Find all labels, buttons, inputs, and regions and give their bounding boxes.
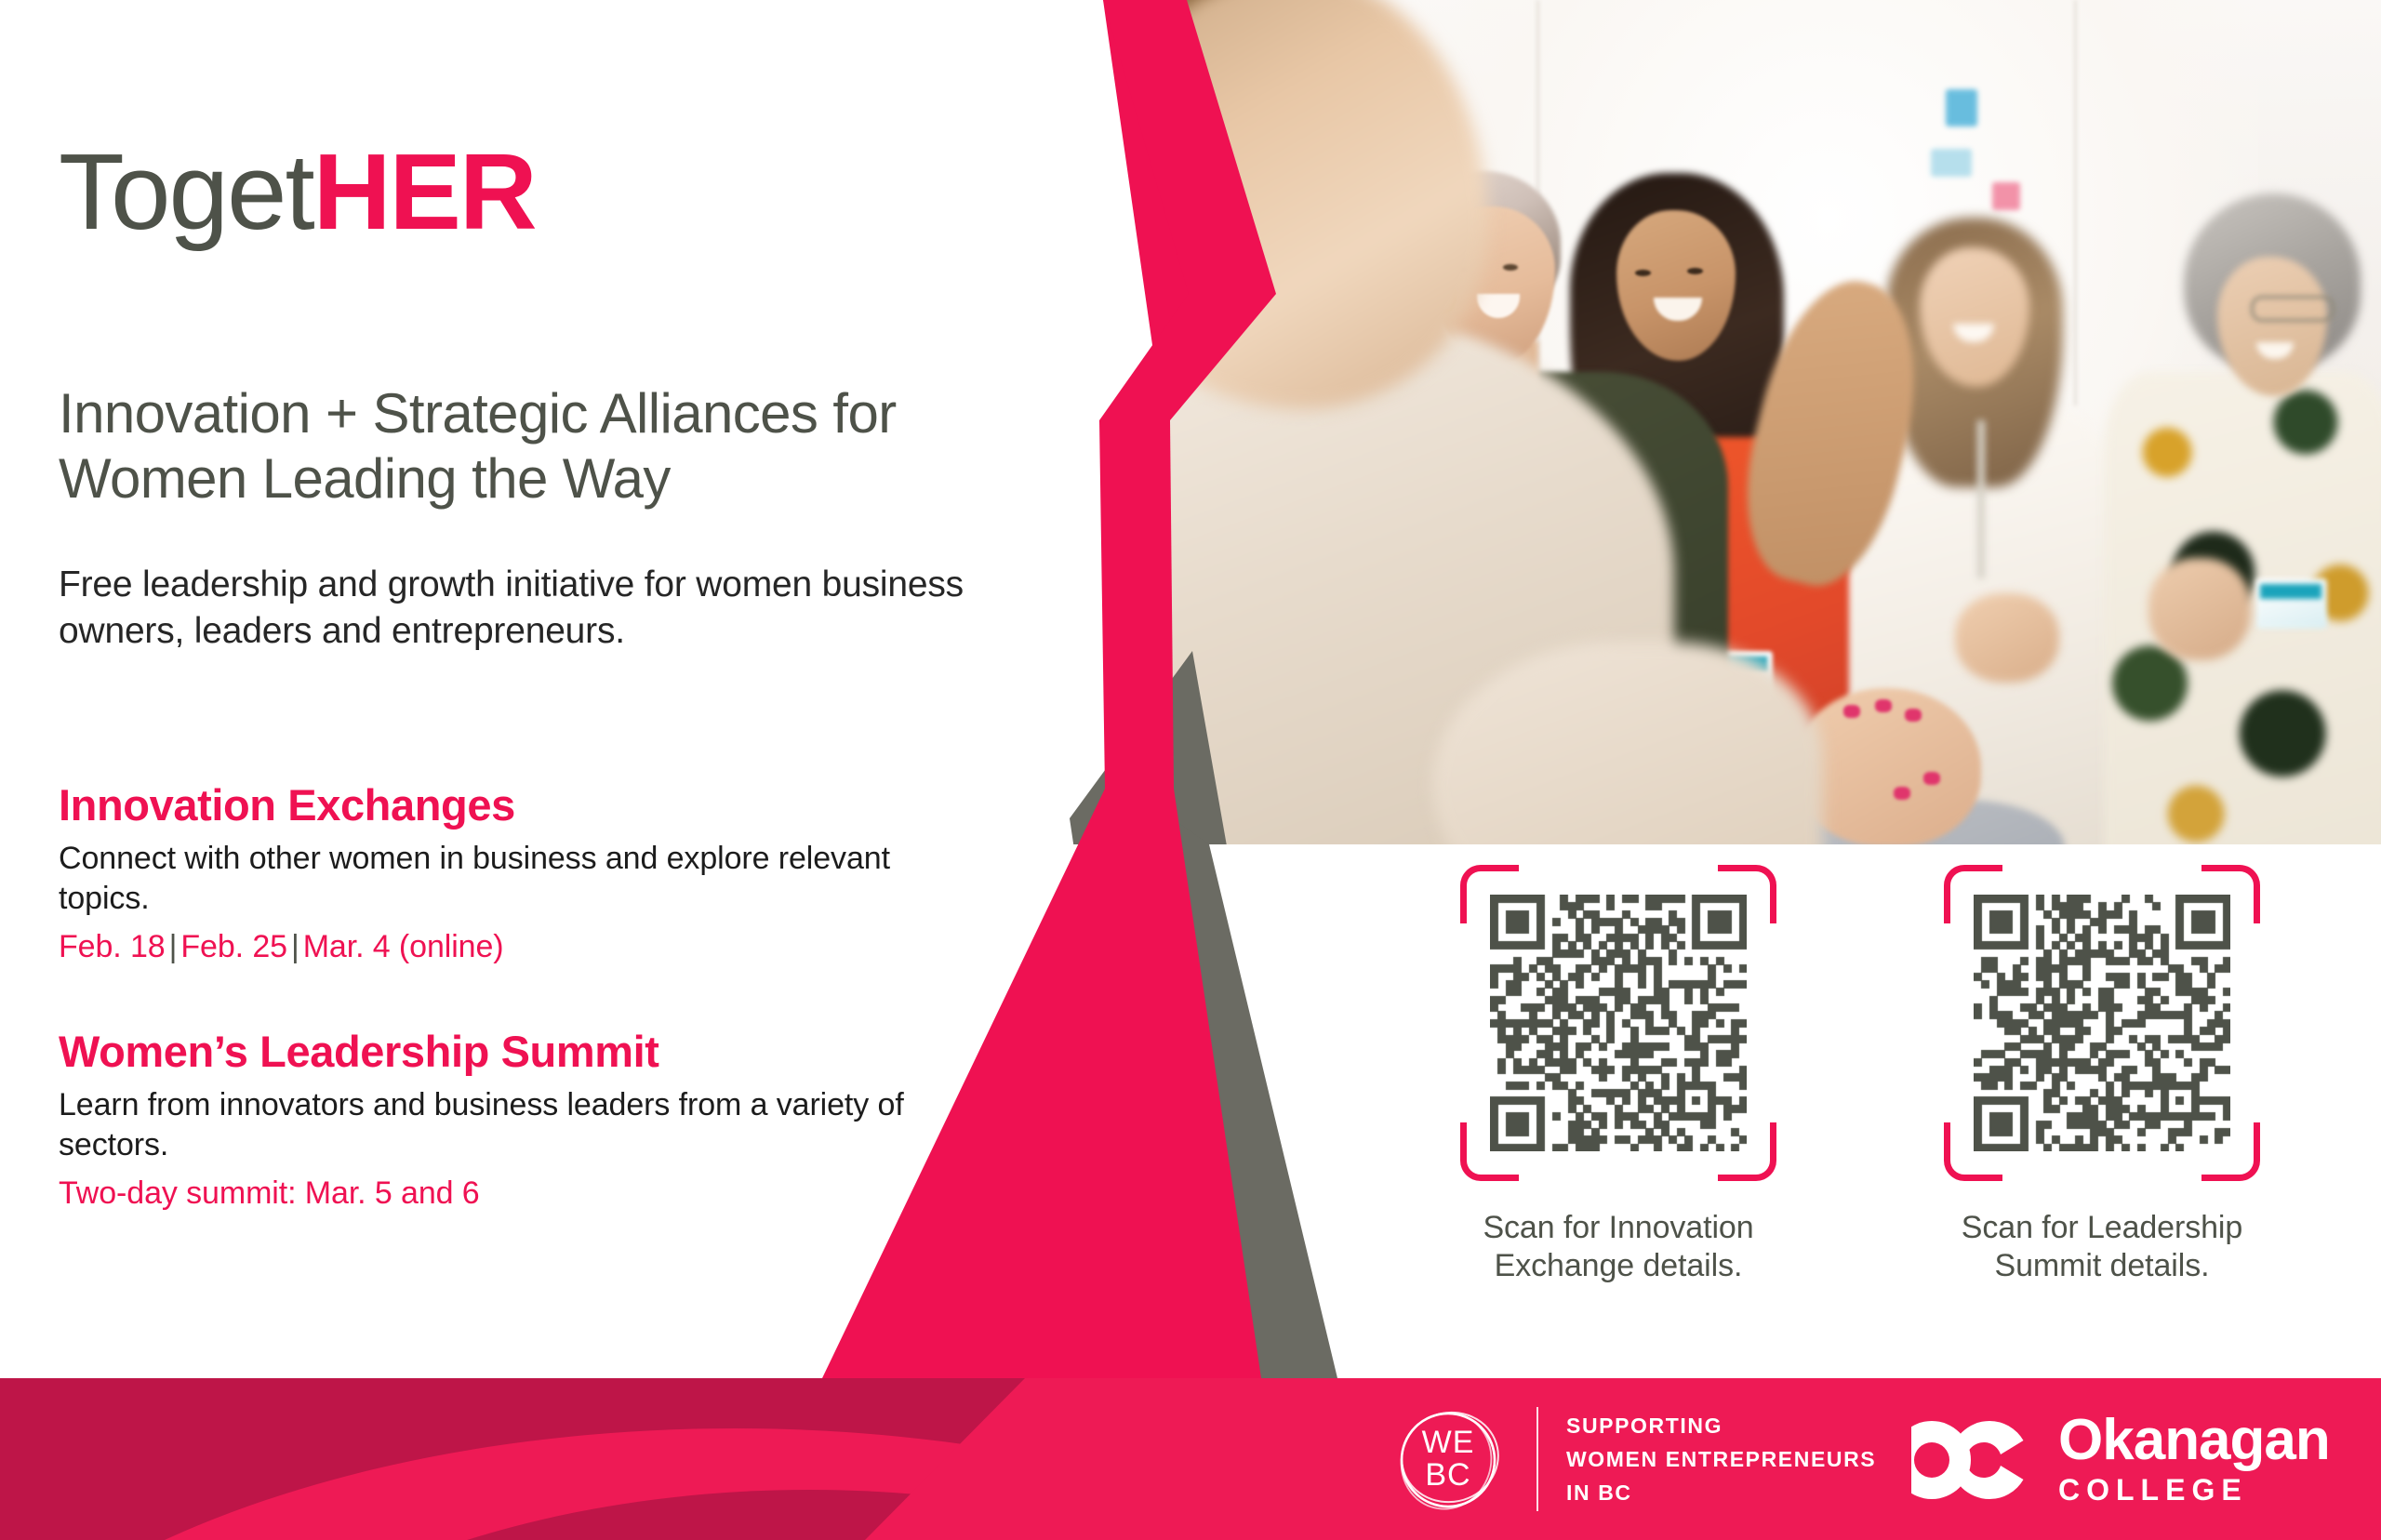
webc-line-1: WE (1422, 1427, 1475, 1459)
date-item: Mar. 4 (online) (303, 929, 504, 964)
oc-monogram-icon (1911, 1420, 2034, 1500)
wall-edge (2074, 0, 2077, 405)
webc-mark-icon: WE BC (1393, 1404, 1503, 1514)
page-subhead: Free leadership and growth initiative fo… (59, 562, 998, 655)
logotype-prefix: Toget (59, 131, 313, 252)
sticky-note (1992, 182, 2020, 210)
section-body: Learn from innovators and business leade… (59, 1085, 979, 1165)
qr-block-leadership[interactable]: Scan for Leadership Summit details. (1907, 865, 2297, 1285)
sticky-note (1946, 89, 1977, 126)
webc-logo: WE BC Supporting Women Entrepreneurs in … (1393, 1401, 1876, 1518)
tagline-line-2: Women Entrepreneurs (1566, 1442, 1876, 1476)
sticky-note (1931, 149, 1972, 177)
poster-canvas: TogetHER Innovation + Strategic Alliance… (0, 0, 2381, 1540)
qr-frame (1460, 865, 1776, 1181)
section-dates: Two-day summit: Mar. 5 and 6 (59, 1173, 979, 1214)
oc-mark-icon (1911, 1420, 2034, 1500)
qr-caption: Scan for Innovation Exchange details. (1423, 1209, 1814, 1285)
date-separator: | (287, 929, 303, 964)
oc-subname: COLLEGE (2058, 1472, 2330, 1507)
qr-block-innovation[interactable]: Scan for Innovation Exchange details. (1423, 865, 1814, 1285)
webc-line-2: BC (1425, 1459, 1470, 1492)
left-content-column: TogetHER Innovation + Strategic Alliance… (59, 0, 1063, 1378)
footer-bar: WE BC Supporting Women Entrepreneurs in … (0, 1378, 2381, 1540)
date-item: Feb. 18 (59, 929, 166, 964)
page-title: Innovation + Strategic Alliances for Wom… (59, 381, 1017, 511)
tagline-line-1: Supporting (1566, 1409, 1876, 1442)
oc-name: Okanagan (2058, 1413, 2330, 1468)
section-dates: Feb. 18|Feb. 25|Mar. 4 (online) (59, 926, 979, 967)
qr-caption: Scan for Leadership Summit details. (1907, 1209, 2297, 1285)
section-body: Connect with other women in business and… (59, 839, 979, 919)
qr-code-section: Scan for Innovation Exchange details. Sc… (1321, 865, 2381, 1376)
section-leadership-summit: Women’s Leadership Summit Learn from inn… (59, 1028, 979, 1246)
webc-letters: WE BC (1393, 1404, 1503, 1514)
oc-wordmark: Okanagan COLLEGE (2058, 1413, 2330, 1507)
date-separator: | (166, 929, 181, 964)
section-innovation-exchanges: Innovation Exchanges Connect with other … (59, 781, 979, 1000)
qr-code-icon[interactable] (1490, 895, 1747, 1151)
qr-frame (1944, 865, 2260, 1181)
program-logotype: TogetHER (59, 138, 536, 246)
hero-photo (1153, 0, 2381, 844)
date-item: Feb. 25 (180, 929, 287, 964)
section-title: Women’s Leadership Summit (59, 1028, 979, 1076)
logotype-accent: HER (313, 131, 536, 252)
photo-background (1153, 0, 2381, 844)
footer-logos: WE BC Supporting Women Entrepreneurs in … (0, 1378, 2381, 1540)
logo-divider (1536, 1407, 1538, 1511)
grey-chevron-band (1127, 787, 1337, 1378)
section-title: Innovation Exchanges (59, 781, 979, 830)
qr-code-icon[interactable] (1974, 895, 2230, 1151)
tagline-line-3: in BC (1566, 1476, 1876, 1509)
okanagan-college-logo: Okanagan COLLEGE (1911, 1412, 2330, 1508)
webc-tagline: Supporting Women Entrepreneurs in BC (1566, 1409, 1876, 1510)
